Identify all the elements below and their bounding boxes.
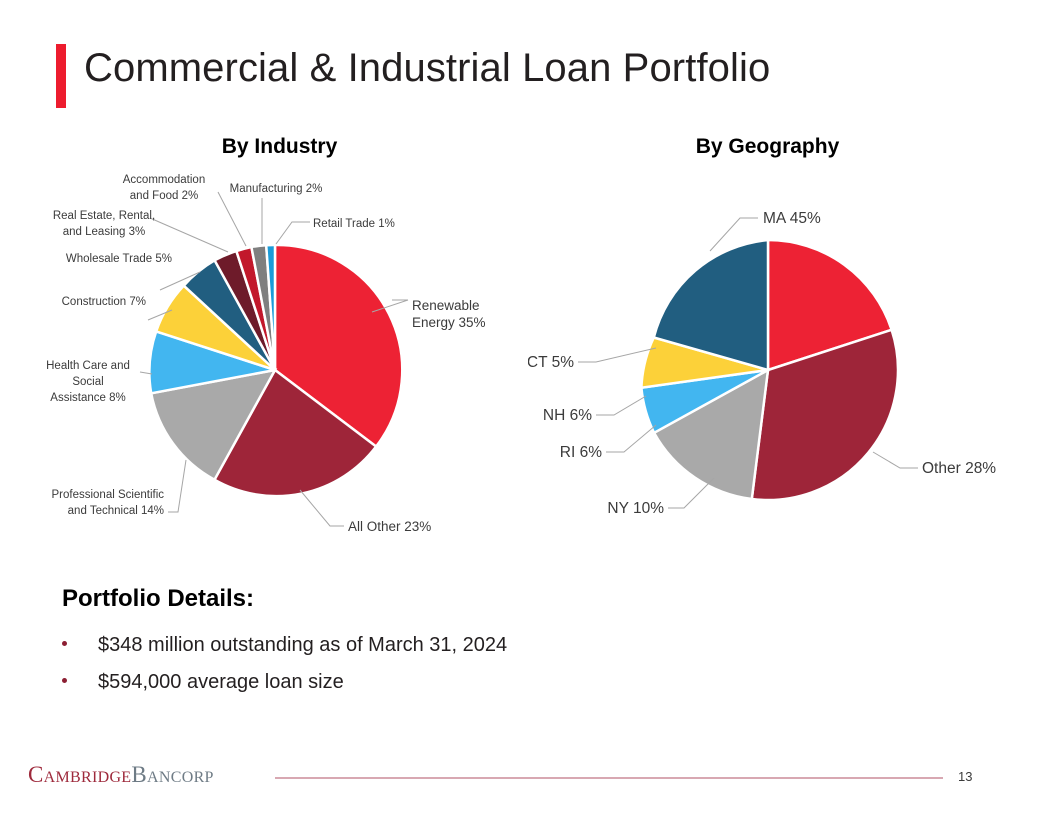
pie-label-health-care-line1: Health Care and <box>46 360 130 372</box>
logo-text-bancorp: Bancorp <box>131 762 213 787</box>
pie-label-manufacturing: Manufacturing 2% <box>230 183 323 195</box>
title-accent-bar <box>56 44 66 108</box>
logo-text-cambridge: Cambridge <box>28 762 131 787</box>
leader-line-all-other <box>300 490 344 526</box>
leader-line-ri <box>606 425 656 452</box>
bullet-dot-icon <box>62 641 67 646</box>
pie-label-real-estate-line2: and Leasing 3% <box>63 226 145 238</box>
leader-line-other <box>873 452 918 468</box>
pie-label-renewable-energy-line1: Renewable <box>412 298 480 313</box>
portfolio-detail-text: $594,000 average loan size <box>98 671 344 694</box>
chart-heading-by-industry: By Industry <box>137 135 422 159</box>
pie-label-all-other: All Other 23% <box>348 519 431 534</box>
pie-chart-by-geography: MA 45% Other 28% NY 10% RI 6% NH 6% CT 5… <box>528 160 1056 560</box>
pie-label-professional-line2: and Technical 14% <box>68 505 164 517</box>
leader-line-accommodation <box>218 192 246 246</box>
pie-label-real-estate-line1: Real Estate, Rental, <box>53 210 155 222</box>
pie-label-ma: MA 45% <box>763 210 821 227</box>
list-item: $594,000 average loan size <box>62 671 344 694</box>
page-number: 13 <box>958 769 972 784</box>
pie-label-health-care-line3: Assistance 8% <box>50 392 125 404</box>
portfolio-details-heading: Portfolio Details: <box>62 585 254 613</box>
page-title: Commercial & Industrial Loan Portfolio <box>84 46 770 91</box>
leader-line-nh <box>596 396 646 415</box>
pie-label-nh: NH 6% <box>543 407 592 424</box>
pie-label-wholesale-trade: Wholesale Trade 5% <box>66 253 172 265</box>
pie-label-professional-line1: Professional Scientific <box>52 489 165 501</box>
pie-label-ri: RI 6% <box>560 444 602 461</box>
chart-heading-by-geography: By Geography <box>625 135 910 159</box>
pie-label-ny: NY 10% <box>607 500 664 517</box>
pie-label-accommodation-line1: Accommodation <box>123 174 205 186</box>
company-logo: CambridgeBancorp <box>28 762 214 788</box>
pie-label-renewable-energy-line2: Energy 35% <box>412 315 486 330</box>
leader-line-realestate <box>150 218 228 252</box>
pie-label-construction: Construction 7% <box>62 296 146 308</box>
pie-label-accommodation-line2: and Food 2% <box>130 190 198 202</box>
bullet-dot-icon <box>62 678 67 683</box>
pie-label-ct: CT 5% <box>528 354 574 371</box>
list-item: $348 million outstanding as of March 31,… <box>62 634 507 657</box>
leader-line-professional <box>168 460 186 512</box>
pie-label-other: Other 28% <box>922 460 996 477</box>
slide: Commercial & Industrial Loan Portfolio B… <box>0 0 1056 816</box>
pie-label-retail-trade: Retail Trade 1% <box>313 218 395 230</box>
leader-line-retail <box>276 222 310 244</box>
pie-label-health-care-line2: Social <box>72 376 103 388</box>
footer-divider <box>275 777 943 779</box>
portfolio-detail-text: $348 million outstanding as of March 31,… <box>98 634 507 657</box>
pie-chart-by-industry: Renewable Energy 35% All Other 23% Profe… <box>0 160 530 560</box>
